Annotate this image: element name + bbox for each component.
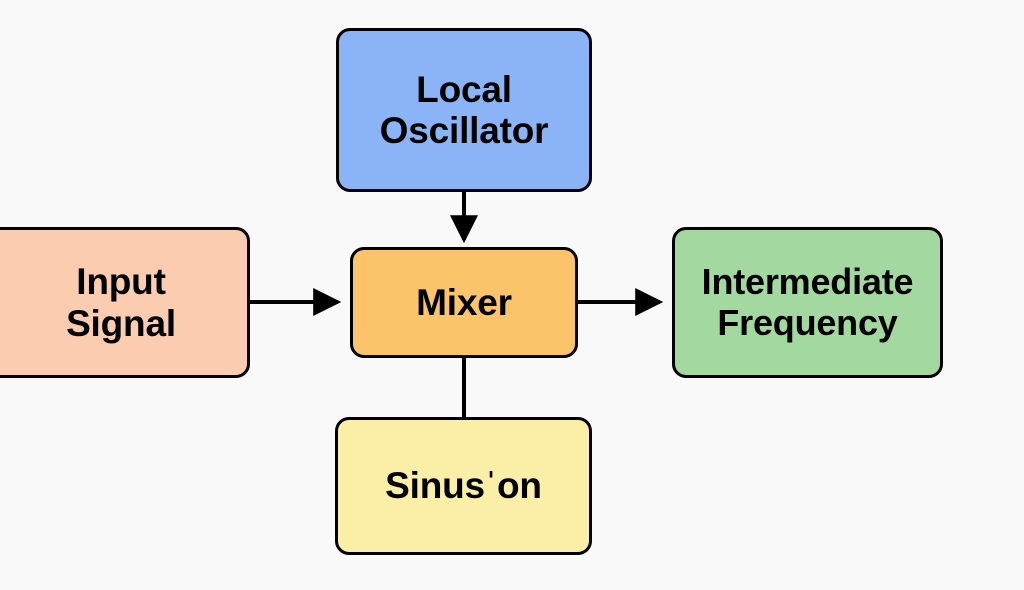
node-mixer[interactable]: Mixer (350, 247, 578, 358)
node-input-signal-label: Input Signal (60, 261, 182, 344)
node-sinuson-label: Sinusˈon (379, 465, 548, 506)
node-intermediate-frequency[interactable]: Intermediate Frequency (672, 227, 943, 378)
node-local-oscillator-label: Local Oscillator (374, 69, 555, 152)
diagram-canvas: Input Signal Local Oscillator Mixer Inte… (0, 0, 1024, 590)
node-sinuson[interactable]: Sinusˈon (335, 417, 592, 555)
node-mixer-label: Mixer (410, 282, 518, 323)
node-local-oscillator[interactable]: Local Oscillator (336, 28, 592, 192)
node-input-signal[interactable]: Input Signal (0, 227, 250, 378)
node-intermediate-frequency-label: Intermediate Frequency (696, 262, 920, 343)
